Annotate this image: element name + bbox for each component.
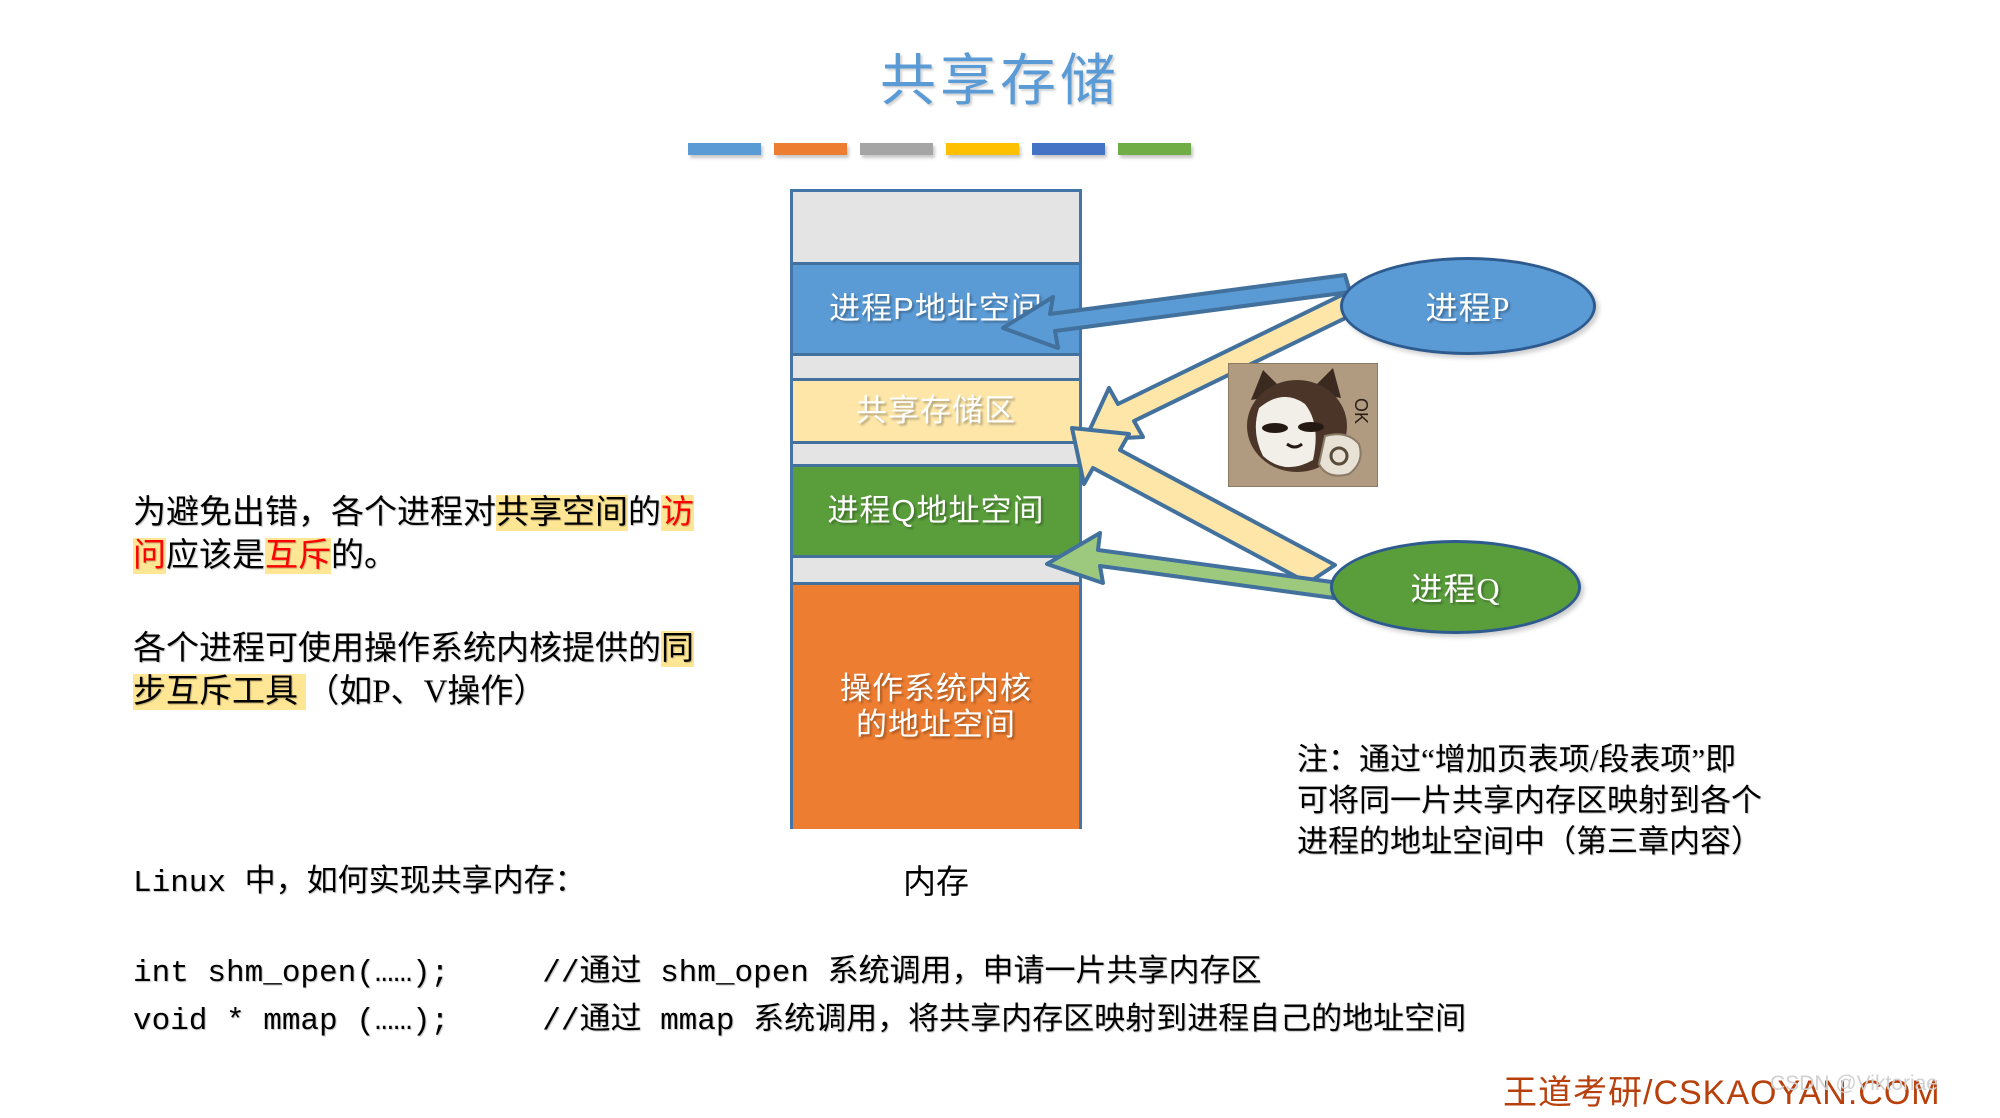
memory-block-shared-label: 共享存储区: [856, 393, 1016, 429]
arrow-q-to-q-space: [1047, 533, 1334, 598]
process-p-label: 进程P: [1426, 283, 1511, 329]
memory-block-process-p-label: 进程P地址空间: [829, 291, 1043, 327]
rule-bar-2: [774, 143, 847, 155]
kernel-label-line1: 操作系统内核: [840, 671, 1032, 706]
memory-caption: 内存: [790, 855, 1082, 903]
rule-bar-3: [860, 143, 933, 155]
rule-bar-6: [1118, 143, 1191, 155]
code-line-mmap: void * mmap (……); //通过 mmap 系统调用，将共享内存区映…: [133, 993, 1466, 1039]
memory-block-process-q: 进程Q地址空间: [793, 464, 1079, 558]
p2-seg1: 各个进程可使用操作系统内核提: [133, 631, 595, 667]
memory-block-kernel: 操作系统内核 的地址空间: [793, 582, 1079, 829]
note-line-3: 进程的地址空间中（第三章内容）: [1297, 822, 1907, 863]
code-line-shm-open: int shm_open(……); //通过 shm_open 系统调用，申请一…: [133, 945, 1262, 991]
note-page-table: 注：通过“增加页表项/段表项”即 可将同一片共享内存区映射到各个 进程的地址空间…: [1297, 740, 1907, 863]
p1-seg6: 应该是: [166, 538, 265, 574]
footer-watermark: CSDN @Viktoriae: [1770, 1072, 1938, 1096]
paragraph-sync-tools: 各个进程可使用操作系统内核提供的同步互斥工具 （如P、V操作）: [133, 628, 713, 714]
cat-meme-image: OK: [1228, 363, 1378, 487]
p1-seg8: 的。: [331, 538, 397, 574]
cat-overlay-text: OK: [1351, 398, 1371, 424]
p1-seg2: 共享空: [496, 495, 595, 531]
p2-seg4: （如P、V操作）: [306, 674, 546, 710]
p1-seg3: 间: [595, 495, 628, 531]
paragraph-mutual-exclusion: 为避免出错，各个进程对共享空间的访问应该是互斥的。: [133, 492, 713, 578]
note-line-2: 可将同一片共享内存区映射到各个: [1297, 781, 1907, 822]
rule-bar-5: [1032, 143, 1105, 155]
p1-seg1: 为避免出错，各个进程对: [133, 495, 496, 531]
kernel-label-line2: 的地址空间: [856, 707, 1016, 742]
rule-bar-1: [688, 143, 761, 155]
rule-bar-4: [946, 143, 1019, 155]
process-p-node: 进程P: [1340, 257, 1596, 355]
title-decorative-rule: [688, 143, 1191, 155]
memory-block-process-q-label: 进程Q地址空间: [827, 493, 1044, 529]
slide-root: 共享存储 进程P地址空间 共享存储区 进程Q地址空间 操作系统内核 的地址空间 …: [0, 0, 2000, 1118]
memory-block-shared: 共享存储区: [793, 378, 1079, 444]
page-title: 共享存储: [0, 36, 2000, 117]
p2-seg2: 供的: [595, 631, 661, 667]
linux-intro-line: Linux 中，如何实现共享内存：: [133, 855, 586, 901]
memory-diagram: 进程P地址空间 共享存储区 进程Q地址空间 操作系统内核 的地址空间: [790, 189, 1082, 829]
memory-block-process-p: 进程P地址空间: [793, 262, 1079, 356]
process-q-label: 进程Q: [1410, 564, 1500, 610]
p1-seg7: 互斥: [265, 538, 331, 574]
memory-block-kernel-label: 操作系统内核 的地址空间: [840, 671, 1032, 742]
process-q-node: 进程Q: [1330, 540, 1581, 634]
p1-seg4: 的: [628, 495, 661, 531]
note-line-1: 注：通过“增加页表项/段表项”即: [1297, 740, 1907, 781]
